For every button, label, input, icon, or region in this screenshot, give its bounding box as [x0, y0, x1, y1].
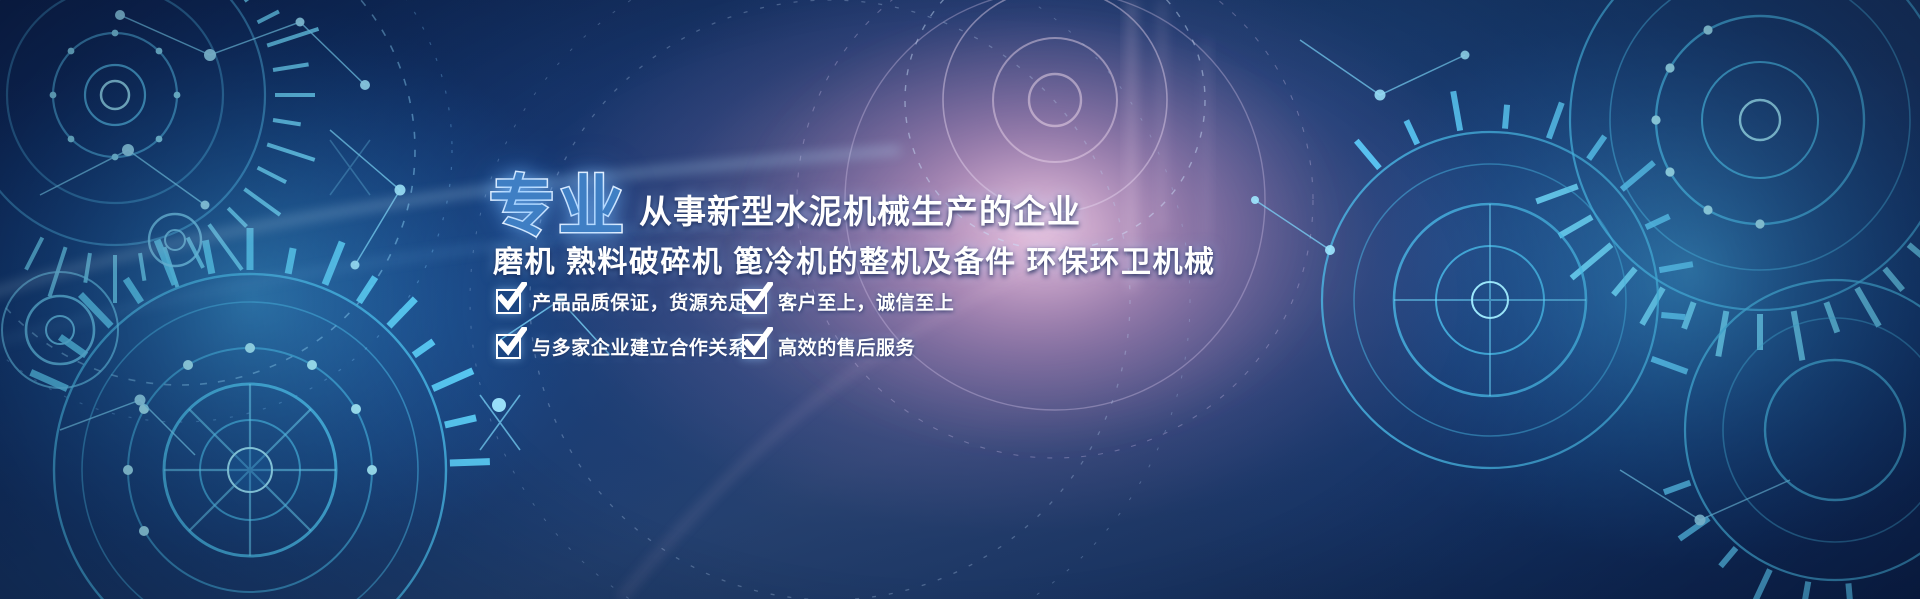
- hero-banner: 专业 从事新型水泥机械生产的企业 磨机 熟料破碎机 篦冷机的整机及备件 环保环卫…: [0, 0, 1920, 599]
- feature-item: 客户至上，诚信至上: [742, 288, 992, 315]
- feature-bullets: 产品品质保证，货源充足 客户至上，诚信至上 与多家企业建立合作关系 高效: [496, 288, 1016, 378]
- feature-label: 高效的售后服务: [778, 333, 915, 360]
- bullet-row: 与多家企业建立合作关系 高效的售后服务: [496, 333, 1016, 360]
- checkbox-checked-icon: [496, 289, 521, 314]
- product-line: 磨机 熟料破碎机 篦冷机的整机及备件 环保环卫机械: [493, 237, 1216, 281]
- feature-item: 产品品质保证，货源充足: [496, 288, 742, 315]
- checkbox-checked-icon: [742, 334, 767, 359]
- bullet-row: 产品品质保证，货源充足 客户至上，诚信至上: [496, 288, 1016, 315]
- feature-item: 高效的售后服务: [742, 333, 992, 360]
- headline-rest: 从事新型水泥机械生产的企业: [639, 185, 1081, 233]
- feature-label: 产品品质保证，货源充足: [532, 288, 748, 315]
- checkbox-checked-icon: [496, 334, 521, 359]
- headline: 专业 从事新型水泥机械生产的企业: [489, 173, 1081, 239]
- headline-emphasis: 专业: [489, 173, 627, 239]
- feature-label: 客户至上，诚信至上: [778, 288, 954, 315]
- checkbox-checked-icon: [742, 289, 767, 314]
- feature-label: 与多家企业建立合作关系: [532, 333, 748, 360]
- feature-item: 与多家企业建立合作关系: [496, 333, 742, 360]
